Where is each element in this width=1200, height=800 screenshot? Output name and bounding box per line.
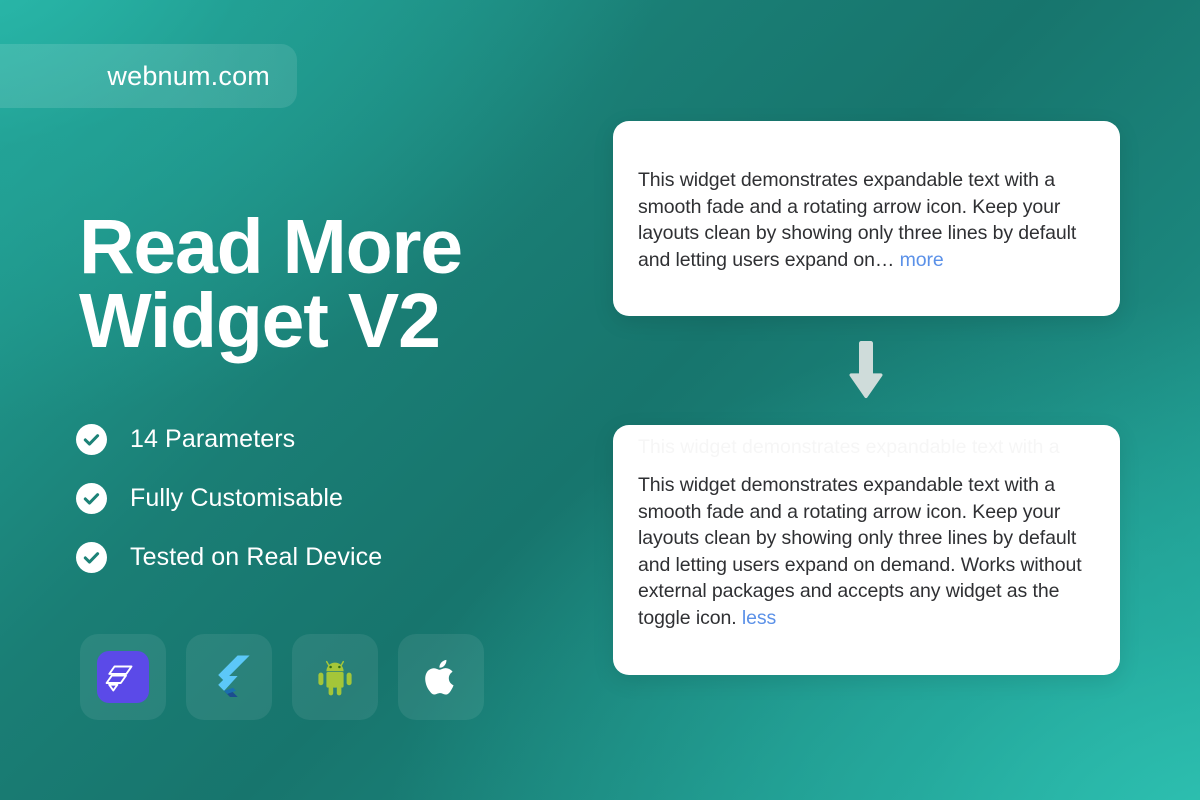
read-more-card-expanded[interactable]: This widget demonstrates expandable text… — [613, 425, 1120, 675]
read-more-card-collapsed[interactable]: This widget demonstrates expandable text… — [613, 121, 1120, 316]
page-title: Read More Widget V2 — [79, 210, 599, 359]
platform-tile-flutterflow — [80, 634, 166, 720]
platform-badges — [80, 634, 484, 720]
flutter-icon — [203, 651, 255, 703]
platform-tile-flutter — [186, 634, 272, 720]
poster-canvas: webnum.com Read More Widget V2 14 Parame… — [0, 0, 1200, 800]
list-item: 14 Parameters — [76, 421, 382, 458]
brand-badge-label: webnum.com — [107, 61, 270, 92]
list-item: Fully Customisable — [76, 480, 382, 517]
card-text-collapsed: This widget demonstrates expandable text… — [638, 169, 1076, 271]
read-more-toggle[interactable]: more — [900, 249, 944, 271]
feature-list: 14 Parameters Fully Customisable Tested … — [76, 421, 382, 576]
card-fade-ghost-text: This widget demonstrates expandable text… — [638, 437, 1097, 457]
apple-icon — [418, 654, 464, 700]
list-item-label: Fully Customisable — [130, 484, 343, 513]
flutterflow-icon — [97, 651, 149, 703]
platform-tile-apple — [398, 634, 484, 720]
check-circle-icon — [76, 483, 107, 514]
android-icon — [312, 654, 358, 700]
card-text-expanded: This widget demonstrates expandable text… — [638, 474, 1082, 629]
card-body: This widget demonstrates expandable text… — [638, 472, 1097, 632]
card-body: This widget demonstrates expandable text… — [638, 167, 1097, 273]
read-less-toggle[interactable]: less — [742, 607, 776, 629]
brand-badge: webnum.com — [0, 44, 297, 108]
list-item-label: Tested on Real Device — [130, 543, 382, 572]
arrow-down-icon — [848, 341, 884, 399]
list-item-label: 14 Parameters — [130, 425, 295, 454]
check-circle-icon — [76, 424, 107, 455]
check-circle-icon — [76, 542, 107, 573]
platform-tile-android — [292, 634, 378, 720]
list-item: Tested on Real Device — [76, 539, 382, 576]
